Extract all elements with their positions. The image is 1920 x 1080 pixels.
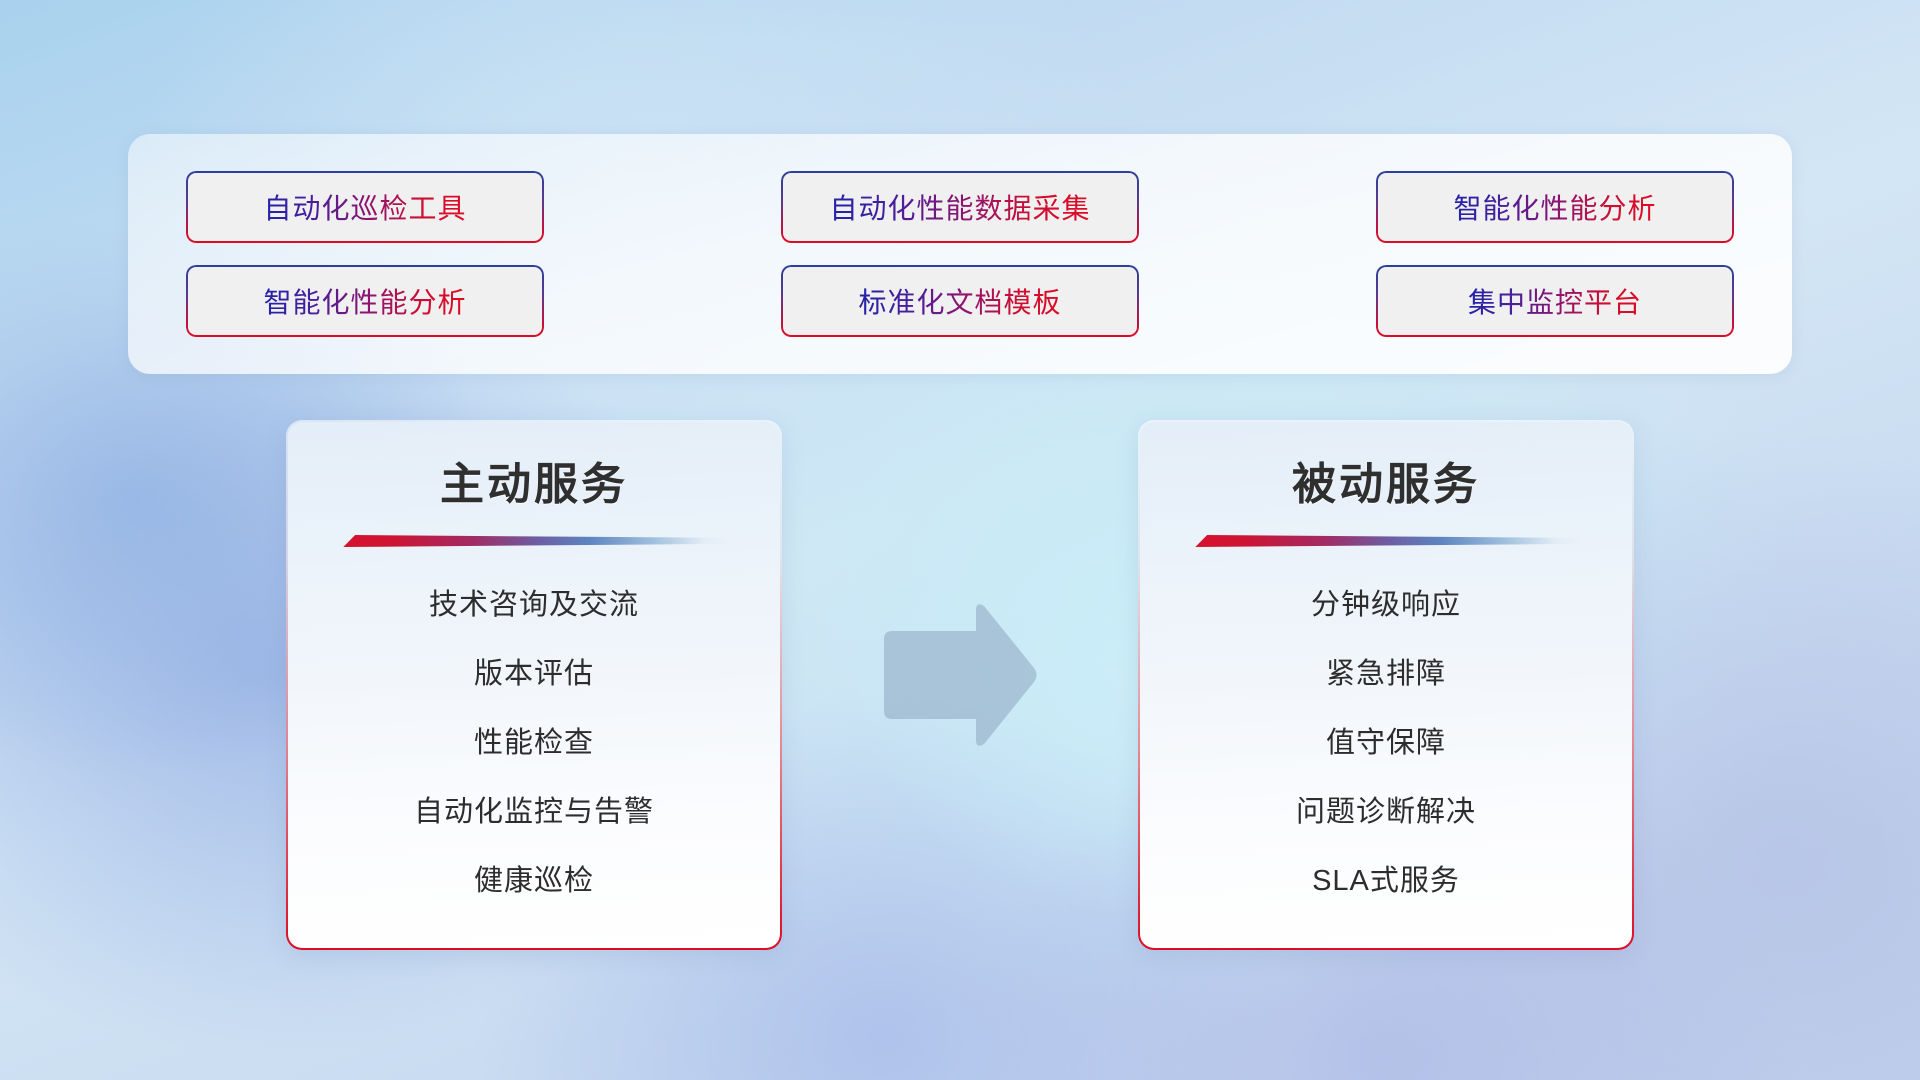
list-item[interactable]: 版本评估: [474, 650, 594, 692]
list-item[interactable]: 自动化监控与告警: [414, 788, 654, 830]
capability-tag-intelligent-perf-analysis[interactable]: 智能化性能分析: [1376, 171, 1734, 243]
service-card-active-body: 主动服务 技术咨询及交流 版本评估 性能检查 自动化监控与告警 健康巡检: [288, 422, 780, 948]
capability-tag-standard-doc-template[interactable]: 标准化文档模板: [781, 265, 1139, 337]
list-item[interactable]: 性能检查: [474, 719, 594, 761]
capability-row-2: 智能化性能分析 标准化文档模板 集中监控平台: [186, 265, 1734, 337]
divider-bar: [1189, 534, 1583, 547]
capability-tag-intelligent-perf-analysis-2[interactable]: 智能化性能分析: [186, 265, 544, 337]
service-card-active[interactable]: 主动服务 技术咨询及交流 版本评估 性能检查 自动化监控与告警 健康巡检: [286, 420, 782, 950]
service-card-passive-body: 被动服务 分钟级响应 紧急排障 值守保障 问题诊断解决 SLA式服务: [1140, 422, 1632, 948]
list-item[interactable]: 问题诊断解决: [1296, 788, 1476, 830]
capability-tag-label: 智能化性能分析: [1453, 187, 1656, 227]
capability-tag-label: 自动化巡检工具: [263, 187, 466, 227]
list-item[interactable]: 分钟级响应: [1311, 581, 1461, 623]
capability-tag-auto-perf-data-collection[interactable]: 自动化性能数据采集: [781, 171, 1139, 243]
capability-tag-central-monitoring-platform[interactable]: 集中监控平台: [1376, 265, 1734, 337]
arrow-right-icon: [880, 600, 1040, 750]
service-card-passive-list: 分钟级响应 紧急排障 值守保障 问题诊断解决 SLA式服务: [1140, 581, 1632, 899]
title-divider: [337, 534, 731, 547]
list-item[interactable]: 值守保障: [1326, 719, 1446, 761]
capability-panel: 自动化巡检工具 自动化性能数据采集 智能化性能分析 智能化性能分析 标准化文档模…: [128, 134, 1792, 374]
list-item[interactable]: SLA式服务: [1312, 857, 1460, 899]
capability-tag-label: 标准化文档模板: [858, 281, 1061, 321]
service-card-active-list: 技术咨询及交流 版本评估 性能检查 自动化监控与告警 健康巡检: [288, 581, 780, 899]
divider-bar: [337, 534, 731, 547]
capability-tag-auto-inspection-tool[interactable]: 自动化巡检工具: [186, 171, 544, 243]
service-card-passive-title: 被动服务: [1292, 448, 1480, 512]
title-divider: [1189, 534, 1583, 547]
capability-row-1: 自动化巡检工具 自动化性能数据采集 智能化性能分析: [186, 171, 1734, 243]
list-item[interactable]: 健康巡检: [474, 857, 594, 899]
capability-tag-label: 集中监控平台: [1468, 281, 1642, 321]
service-card-active-title: 主动服务: [440, 448, 628, 512]
capability-tag-label: 自动化性能数据采集: [829, 187, 1090, 227]
list-item[interactable]: 紧急排障: [1326, 650, 1446, 692]
list-item[interactable]: 技术咨询及交流: [429, 581, 639, 623]
capability-tag-label: 智能化性能分析: [263, 281, 466, 321]
service-card-passive[interactable]: 被动服务 分钟级响应 紧急排障 值守保障 问题诊断解决 SLA式服务: [1138, 420, 1634, 950]
